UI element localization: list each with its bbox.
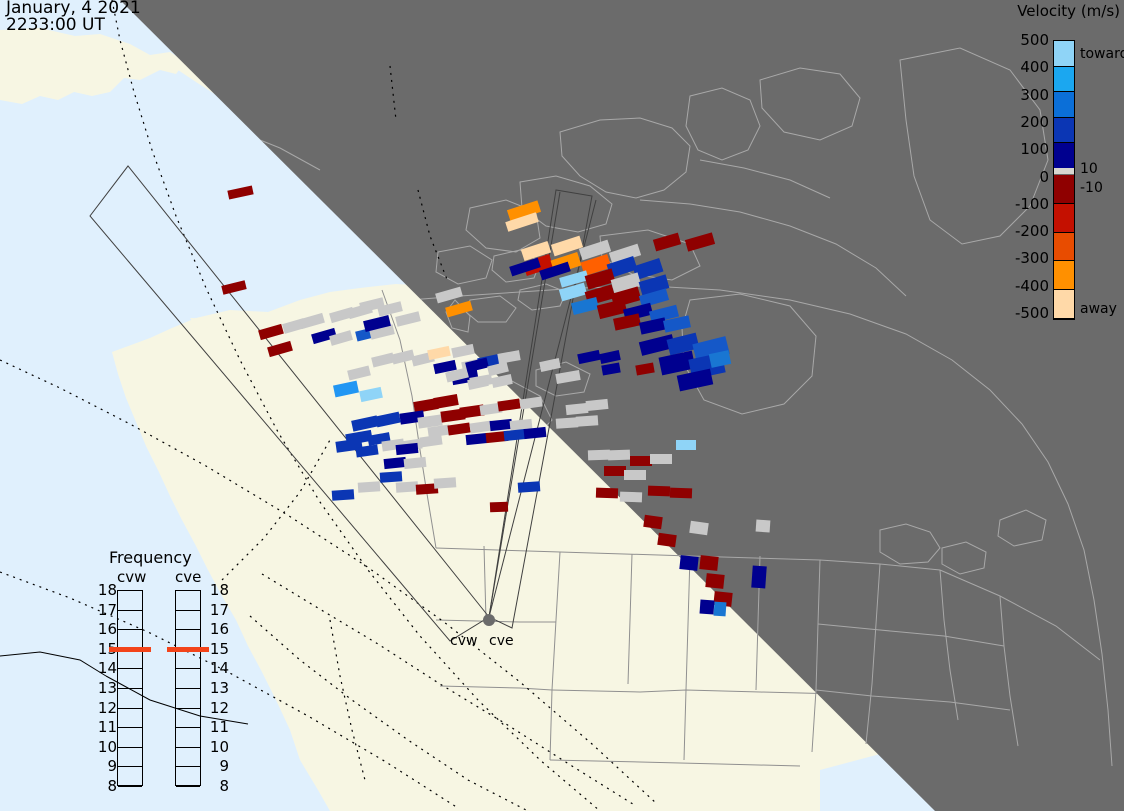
radar-cell: [358, 481, 381, 493]
radar-cell: [714, 602, 727, 617]
radar-cell: [679, 555, 698, 571]
frequency-cell: [176, 728, 200, 748]
colorbar-tick: 100: [997, 140, 1049, 158]
colorbar-tick: 0: [997, 168, 1049, 186]
radar-cell: [648, 486, 670, 497]
frequency-tick-cvw: 9: [93, 757, 117, 775]
frequency-tick-cve: 18: [205, 581, 229, 599]
frequency-cell: [118, 669, 142, 689]
colorbar-segment: [1054, 41, 1074, 67]
colorbar-segment: [1054, 290, 1074, 319]
frequency-cell: [118, 748, 142, 768]
colorbar-segment: [1054, 92, 1074, 118]
frequency-cell: [176, 767, 200, 787]
radar-cell: [396, 481, 419, 493]
frequency-cell: [176, 689, 200, 709]
radar-cell: [705, 573, 724, 589]
frequency-cell: [118, 591, 142, 611]
time-label: 2233:00 UT: [6, 15, 105, 35]
colorbar-segment: [1054, 233, 1074, 262]
frequency-tick-cve: 17: [205, 601, 229, 619]
colorbar-tick: 400: [997, 58, 1049, 76]
colorbar-tick: -100: [997, 195, 1049, 213]
radar-cell: [434, 477, 457, 489]
colorbar-tick: -500: [997, 304, 1049, 322]
frequency-tick-cvw: 8: [93, 777, 117, 795]
frequency-tick-cve: 9: [205, 757, 229, 775]
colorbar-away-label: away: [1080, 301, 1117, 317]
colorbar-tick: 200: [997, 113, 1049, 131]
radar-cell: [751, 566, 767, 589]
frequency-marker-cve: [167, 647, 209, 652]
radar-cell: [689, 521, 708, 535]
frequency-cell: [118, 709, 142, 729]
colorbar-tick: 500: [997, 31, 1049, 49]
radar-site-marker: [483, 614, 495, 626]
frequency-cell: [176, 669, 200, 689]
colorbar-tick: -300: [997, 249, 1049, 267]
frequency-cell: [176, 591, 200, 611]
radar-cell: [756, 520, 771, 533]
radar-cell: [643, 515, 662, 529]
colorbar-tick: 300: [997, 86, 1049, 104]
radar-cell: [670, 488, 692, 499]
frequency-tick-cvw: 11: [93, 718, 117, 736]
radar-cell: [699, 555, 718, 571]
radar-cell: [556, 417, 579, 429]
frequency-tick-cve: 11: [205, 718, 229, 736]
colorbar-tick: -400: [997, 277, 1049, 295]
colorbar-segment: [1054, 204, 1074, 233]
colorbar-tick: -200: [997, 222, 1049, 240]
frequency-tick-cve: 14: [205, 659, 229, 677]
colorbar-segment: [1054, 118, 1074, 144]
frequency-tick-cve: 8: [205, 777, 229, 795]
colorbar-title: Velocity (m/s): [1017, 2, 1120, 20]
site-label-cve: cve: [489, 633, 514, 649]
velocity-colorbar: [1053, 40, 1075, 320]
frequency-column-cvw: cvw: [117, 568, 146, 586]
colorbar-toward-label: toward: [1080, 46, 1124, 62]
colorbar-negative-threshold: -10: [1080, 180, 1103, 196]
colorbar-segment: [1054, 67, 1074, 93]
radar-cell: [630, 456, 652, 466]
radar-cell: [657, 533, 676, 547]
frequency-title: Frequency: [109, 548, 192, 567]
frequency-bar-cve: [175, 590, 201, 786]
frequency-tick-cvw: 14: [93, 659, 117, 677]
frequency-cell: [118, 767, 142, 787]
radar-cell: [490, 502, 508, 513]
frequency-tick-cvw: 17: [93, 601, 117, 619]
radar-cell: [588, 450, 610, 461]
frequency-legend: Frequency cvw cve 18171615141312111098 1…: [95, 548, 255, 788]
frequency-tick-cvw: 16: [93, 620, 117, 638]
radar-cell: [676, 440, 696, 450]
radar-cell: [332, 489, 355, 501]
radar-cell: [596, 488, 618, 499]
frequency-cell: [118, 689, 142, 709]
frequency-tick-cve: 16: [205, 620, 229, 638]
frequency-tick-cvw: 18: [93, 581, 117, 599]
colorbar-positive-threshold: 10: [1080, 161, 1098, 177]
radar-cell: [624, 470, 646, 480]
radar-cell: [620, 492, 642, 503]
frequency-cell: [176, 611, 200, 631]
colorbar-segment: [1054, 261, 1074, 290]
radar-cell: [700, 600, 715, 615]
frequency-column-cve: cve: [175, 568, 201, 586]
colorbar-segment: [1054, 175, 1074, 204]
frequency-tick-cvw: 10: [93, 738, 117, 756]
frequency-cell: [118, 611, 142, 631]
frequency-cell: [176, 709, 200, 729]
frequency-tick-cve: 13: [205, 679, 229, 697]
site-label-cvw: cvw: [450, 633, 477, 649]
radar-cell: [650, 454, 672, 464]
frequency-tick-cve: 12: [205, 699, 229, 717]
frequency-cell: [118, 650, 142, 670]
radar-cell: [608, 450, 630, 461]
frequency-marker-cvw: [109, 647, 151, 652]
superdarn-velocity-map: January, 4 2021 2233:00 UT Velocity (m/s…: [0, 0, 1124, 811]
frequency-cell: [118, 728, 142, 748]
radar-cell: [518, 481, 541, 493]
frequency-tick-cvw: 13: [93, 679, 117, 697]
frequency-tick-cve: 10: [205, 738, 229, 756]
frequency-cell: [176, 748, 200, 768]
colorbar-zero-band: [1053, 168, 1075, 174]
frequency-tick-cvw: 12: [93, 699, 117, 717]
colorbar-segment: [1054, 143, 1074, 169]
radar-cell: [380, 471, 403, 483]
radar-cell: [576, 415, 599, 427]
frequency-cell: [176, 650, 200, 670]
radar-cell: [604, 466, 626, 476]
frequency-bar-cvw: [117, 590, 143, 786]
